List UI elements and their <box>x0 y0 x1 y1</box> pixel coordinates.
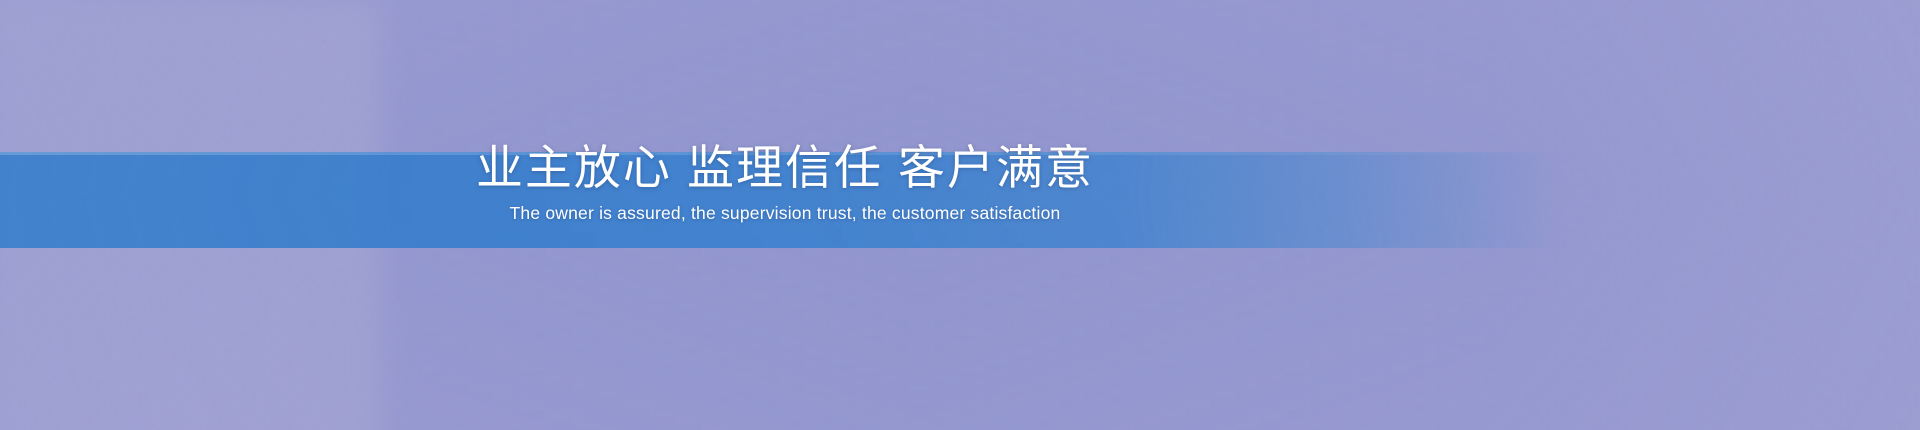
blue-overlay-band <box>0 152 1560 248</box>
band-top-highlight <box>0 152 1560 155</box>
hero-banner: 业主放心 监理信任 客户满意 The owner is assured, the… <box>0 0 1920 430</box>
